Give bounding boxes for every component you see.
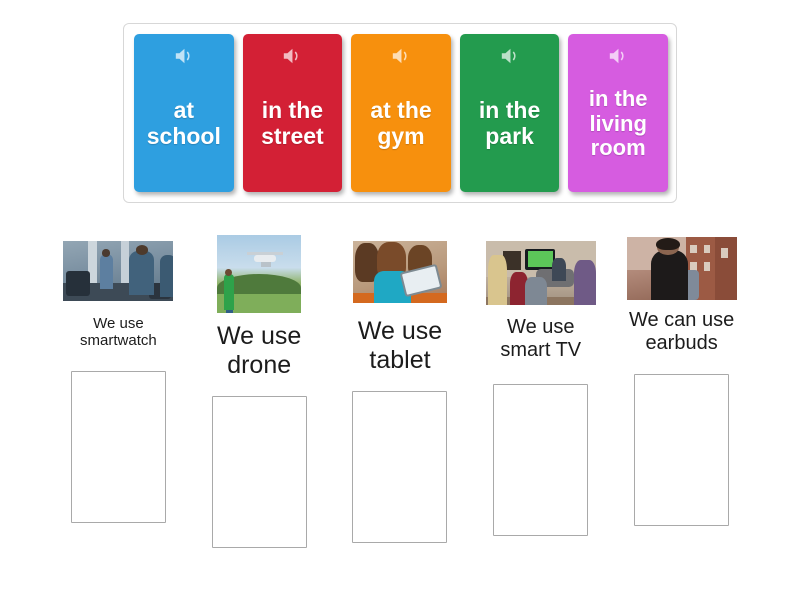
speaker-icon (173, 46, 195, 66)
tile-label: in the street (243, 66, 343, 192)
item-caption: We can use earbuds (626, 309, 738, 355)
item-caption: We use smart TV (485, 316, 597, 362)
item-caption: We use drone (203, 322, 315, 379)
activity-canvas: at school in the street at the gym (0, 0, 800, 600)
draggable-tile-in-the-park[interactable]: in the park (460, 34, 560, 192)
item-image-woman-walking-on-city-street (627, 237, 737, 300)
draggable-tile-in-the-living-room[interactable]: in the living room (568, 34, 668, 192)
item-caption: We use tablet (344, 317, 456, 374)
tile-label: at school (134, 66, 234, 192)
tile-row: at school in the street at the gym (134, 34, 668, 192)
item-image-people-exercising-on-treadmills-in-gym (63, 241, 173, 301)
speaker-icon (607, 46, 629, 66)
item-image-children-using-tablet-at-desk (353, 241, 447, 303)
item-caption: We use smartwatch (62, 315, 174, 349)
draggable-tiles-tray: at school in the street at the gym (123, 23, 677, 203)
dropzone-we-use-drone[interactable] (212, 396, 307, 548)
dropzone-we-use-smartwatch[interactable] (71, 371, 166, 523)
tile-label: at the gym (351, 66, 451, 192)
tile-label: in the park (460, 66, 560, 192)
answer-column: We use smart TV (470, 232, 611, 572)
speaker-icon (281, 46, 303, 66)
answer-column: We use tablet (330, 232, 471, 572)
item-image-person-flying-white-drone-over-park (217, 235, 301, 313)
answer-column: We can use earbuds (611, 232, 752, 572)
dropzone-we-can-use-earbuds[interactable] (634, 374, 729, 526)
dropzone-we-use-smart-tv[interactable] (493, 384, 588, 536)
draggable-tile-at-school[interactable]: at school (134, 34, 234, 192)
answer-column: We use drone (189, 232, 330, 572)
speaker-icon (390, 46, 412, 66)
item-image-family-watching-television-in-living-room (486, 241, 596, 305)
draggable-tile-at-the-gym[interactable]: at the gym (351, 34, 451, 192)
answer-columns: We use smartwatch We use drone (48, 232, 752, 572)
draggable-tile-in-the-street[interactable]: in the street (243, 34, 343, 192)
tile-label: in the living room (568, 66, 668, 192)
answer-column: We use smartwatch (48, 232, 189, 572)
speaker-icon (499, 46, 521, 66)
dropzone-we-use-tablet[interactable] (352, 391, 447, 543)
